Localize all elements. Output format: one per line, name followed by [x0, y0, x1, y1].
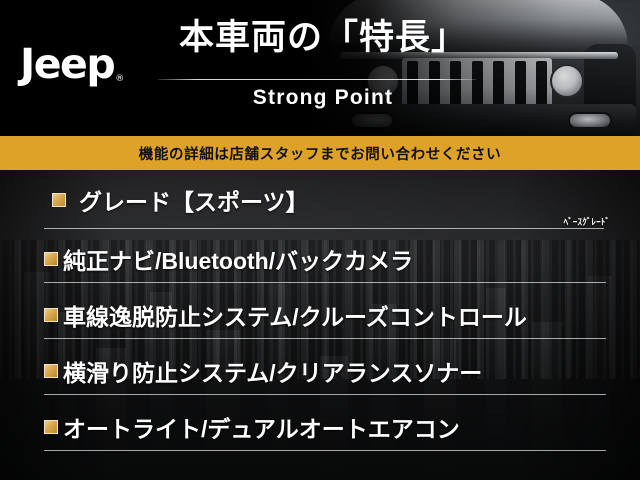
- feature-label: 横滑り防止システム/クリアランスソナー: [63, 354, 482, 388]
- row-divider: [44, 394, 606, 395]
- feature-slide: Jeep® 本車両の「特長」 Strong Point 機能の詳細は店舗スタッフ…: [0, 0, 640, 480]
- feature-row[interactable]: 純正ナビ/Bluetooth/バックカメラ: [44, 242, 614, 276]
- jeep-logo-text: Jeep: [20, 40, 114, 88]
- feature-label: 純正ナビ/Bluetooth/バックカメラ: [63, 242, 413, 276]
- feature-list-section: グレード【スポーツ】 ﾍﾞｰｽｸﾞﾚｰﾄﾞ 純正ナビ/Bluetooth/バック…: [0, 170, 640, 480]
- bullet-square-icon: [52, 193, 66, 207]
- page-title: 本車両の「特長」: [158, 20, 488, 57]
- contact-banner: 機能の詳細は店舗スタッフまでお問い合わせください: [0, 136, 640, 170]
- feature-list: グレード【スポーツ】 ﾍﾞｰｽｸﾞﾚｰﾄﾞ 純正ナビ/Bluetooth/バック…: [0, 170, 640, 480]
- header-bar: Jeep® 本車両の「特長」 Strong Point: [0, 0, 640, 136]
- bullet-square-icon: [44, 420, 58, 434]
- feature-row[interactable]: 車線逸脱防止システム/クルーズコントロール: [44, 298, 624, 332]
- jeep-brand-logo: Jeep®: [20, 44, 123, 85]
- page-subtitle: Strong Point: [158, 86, 488, 110]
- registered-trademark-icon: ®: [115, 74, 124, 84]
- bullet-square-icon: [44, 364, 58, 378]
- row-divider: [44, 282, 606, 283]
- row-divider: [44, 338, 606, 339]
- feature-label: 車線逸脱防止システム/クルーズコントロール: [63, 298, 527, 332]
- base-grade-note: ﾍﾞｰｽｸﾞﾚｰﾄﾞ: [564, 215, 610, 228]
- bullet-square-icon: [44, 308, 58, 322]
- bullet-square-icon: [44, 252, 58, 266]
- row-divider: [44, 228, 604, 229]
- feature-row[interactable]: グレード【スポーツ】: [52, 183, 612, 217]
- feature-row[interactable]: 横滑り防止システム/クリアランスソナー: [44, 354, 624, 388]
- title-divider: [158, 79, 476, 80]
- contact-banner-text: 機能の詳細は店舗スタッフまでお問い合わせください: [139, 143, 501, 164]
- row-divider: [44, 450, 606, 451]
- feature-row[interactable]: オートライト/デュアルオートエアコン: [44, 410, 624, 444]
- feature-label: グレード【スポーツ】: [79, 183, 309, 217]
- feature-label: オートライト/デュアルオートエアコン: [63, 410, 460, 444]
